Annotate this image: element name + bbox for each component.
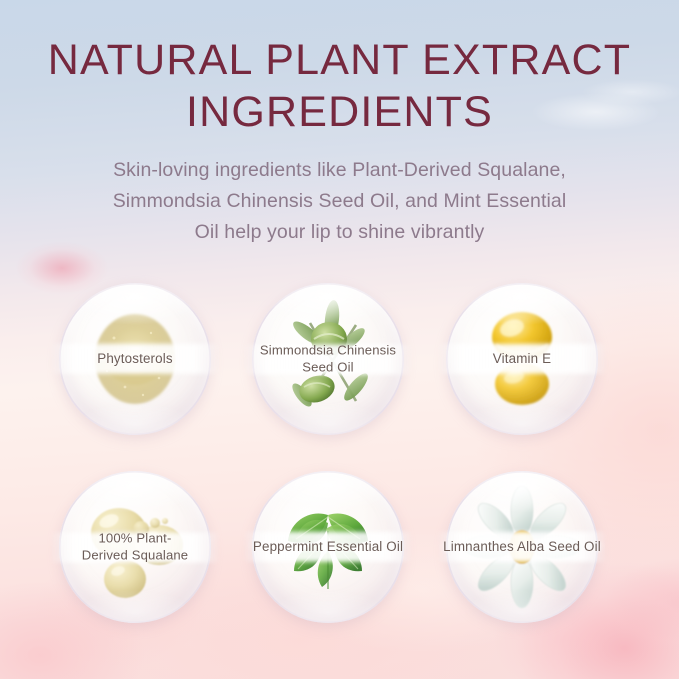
page-title: NATURAL PLANT EXTRACT INGREDIENTS	[0, 34, 679, 138]
header-block: NATURAL PLANT EXTRACT INGREDIENTS	[0, 34, 679, 138]
ingredient-label: Peppermint Essential Oil	[243, 539, 413, 556]
ingredient-label: 100% Plant- Derived Squalane	[50, 531, 220, 564]
page-subtitle: Skin-loving ingredients like Plant-Deriv…	[0, 155, 679, 248]
ingredients-infographic: NATURAL PLANT EXTRACT INGREDIENTS Skin-l…	[0, 0, 679, 679]
ingredient-card-vitamin-e[interactable]: Vitamin E	[446, 283, 598, 435]
ingredient-card-peppermint-essential-oil[interactable]: Peppermint Essential Oil	[252, 471, 404, 623]
ingredient-card-plant-derived-squalane[interactable]: 100% Plant- Derived Squalane	[59, 471, 211, 623]
ingredient-label: Vitamin E	[437, 351, 607, 368]
ingredient-label: Limnanthes Alba Seed Oil	[437, 539, 607, 556]
ingredient-grid: Phytosterols	[0, 283, 679, 623]
ingredient-card-limnanthes-alba-seed-oil[interactable]: Limnanthes Alba Seed Oil	[446, 471, 598, 623]
ingredient-label: Simmondsia Chinensis Seed Oil	[243, 343, 413, 376]
ingredient-card-simmondsia-chinensis-seed-oil[interactable]: Simmondsia Chinensis Seed Oil	[252, 283, 404, 435]
ingredient-label: Phytosterols	[50, 351, 220, 368]
ingredient-card-phytosterols[interactable]: Phytosterols	[59, 283, 211, 435]
